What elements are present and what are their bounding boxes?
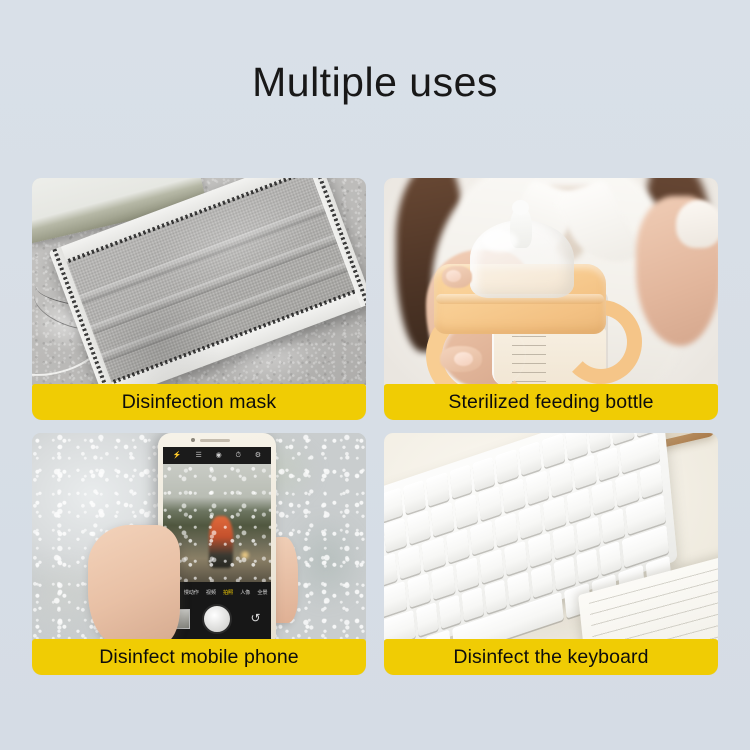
- filter-icon[interactable]: ◉: [216, 452, 222, 459]
- camera-mode-3-active[interactable]: 拍照: [223, 589, 233, 596]
- key: [573, 455, 596, 490]
- flip-camera-icon[interactable]: ↺: [247, 610, 264, 627]
- key: [639, 464, 663, 499]
- key: [615, 472, 639, 507]
- key: [484, 579, 507, 613]
- key: [455, 557, 479, 592]
- photo-disinfect-mobile-phone: ⚡ ☰ ◉ ⏱ ⚙ 延时: [32, 433, 366, 640]
- key: [461, 587, 484, 621]
- key: [426, 472, 449, 506]
- fingernail-lower: [454, 352, 473, 366]
- key: [416, 602, 439, 636]
- caption-disinfect-the-keyboard: Disinfect the keyboard: [384, 639, 718, 675]
- earpiece-speaker: [200, 439, 230, 442]
- key: [502, 478, 525, 513]
- key: [431, 502, 454, 537]
- key: [384, 488, 403, 522]
- key: [431, 565, 455, 600]
- key: [576, 549, 599, 583]
- hdr-icon[interactable]: ☰: [195, 452, 201, 459]
- key: [407, 510, 430, 545]
- key: [601, 508, 625, 543]
- key: [454, 494, 477, 529]
- key: [596, 447, 619, 482]
- infographic-page: Multiple uses: [0, 0, 750, 750]
- key: [422, 537, 446, 572]
- caption-disinfect-mobile-phone: Disinfect mobile phone: [32, 639, 366, 675]
- key: [519, 441, 542, 475]
- key: [553, 556, 576, 590]
- shutter-button[interactable]: [202, 604, 232, 634]
- key: [577, 516, 601, 551]
- hand-holding-phone: [88, 525, 180, 640]
- key: [449, 464, 472, 498]
- key: [472, 457, 495, 491]
- camera-mode-1[interactable]: 慢动作: [184, 589, 199, 596]
- use-case-grid: Disinfection mask: [32, 178, 718, 675]
- photo-disinfection-mask: [32, 178, 366, 385]
- key: [518, 504, 542, 539]
- key: [439, 595, 462, 629]
- key: [525, 470, 548, 505]
- key: [494, 512, 518, 547]
- key: [567, 488, 591, 523]
- bottle-teat-tip: [512, 200, 529, 215]
- use-case-card-keyboard[interactable]: Disinfect the keyboard: [384, 433, 718, 675]
- key: [565, 433, 588, 460]
- key: [599, 541, 622, 575]
- key: [542, 496, 566, 531]
- photo-disinfect-the-keyboard: [384, 433, 718, 640]
- key: [403, 480, 426, 514]
- key: [504, 541, 528, 576]
- key: [549, 463, 572, 498]
- key: [397, 545, 421, 580]
- timer-icon[interactable]: ⏱: [236, 452, 241, 459]
- dome-highlight: [482, 230, 518, 252]
- key: [530, 564, 553, 598]
- key: [552, 525, 576, 560]
- settings-icon[interactable]: ⚙: [255, 452, 261, 459]
- key: [542, 433, 565, 467]
- camera-mode-5[interactable]: 全景: [257, 589, 267, 596]
- use-case-card-mask[interactable]: Disinfection mask: [32, 178, 366, 420]
- camera-top-toolbar[interactable]: ⚡ ☰ ◉ ⏱ ⚙: [163, 447, 271, 464]
- bottle-cap-in-hand: [676, 200, 718, 248]
- key: [446, 529, 470, 564]
- use-case-card-mobile-phone[interactable]: ⚡ ☰ ◉ ⏱ ⚙ 延时: [32, 433, 366, 675]
- key: [528, 533, 552, 568]
- key: [480, 549, 504, 584]
- key: [470, 520, 494, 555]
- key: [591, 480, 615, 515]
- use-case-card-feeding-bottle[interactable]: Sterilized feeding bottle: [384, 178, 718, 420]
- flash-icon[interactable]: ⚡: [173, 452, 182, 459]
- key: [407, 573, 431, 608]
- key: [496, 449, 519, 483]
- front-camera-icon: [191, 438, 195, 442]
- camera-mode-2[interactable]: 视频: [206, 589, 216, 596]
- key: [507, 572, 530, 606]
- camera-mode-4[interactable]: 人像: [240, 589, 250, 596]
- caption-sterilized-feeding-bottle: Sterilized feeding bottle: [384, 384, 718, 420]
- key: [384, 518, 407, 553]
- photo-sterilized-feeding-bottle: [384, 178, 718, 385]
- page-title: Multiple uses: [0, 58, 750, 107]
- caption-disinfection-mask: Disinfection mask: [32, 384, 366, 420]
- key: [478, 486, 501, 521]
- fingernail-upper: [446, 270, 461, 282]
